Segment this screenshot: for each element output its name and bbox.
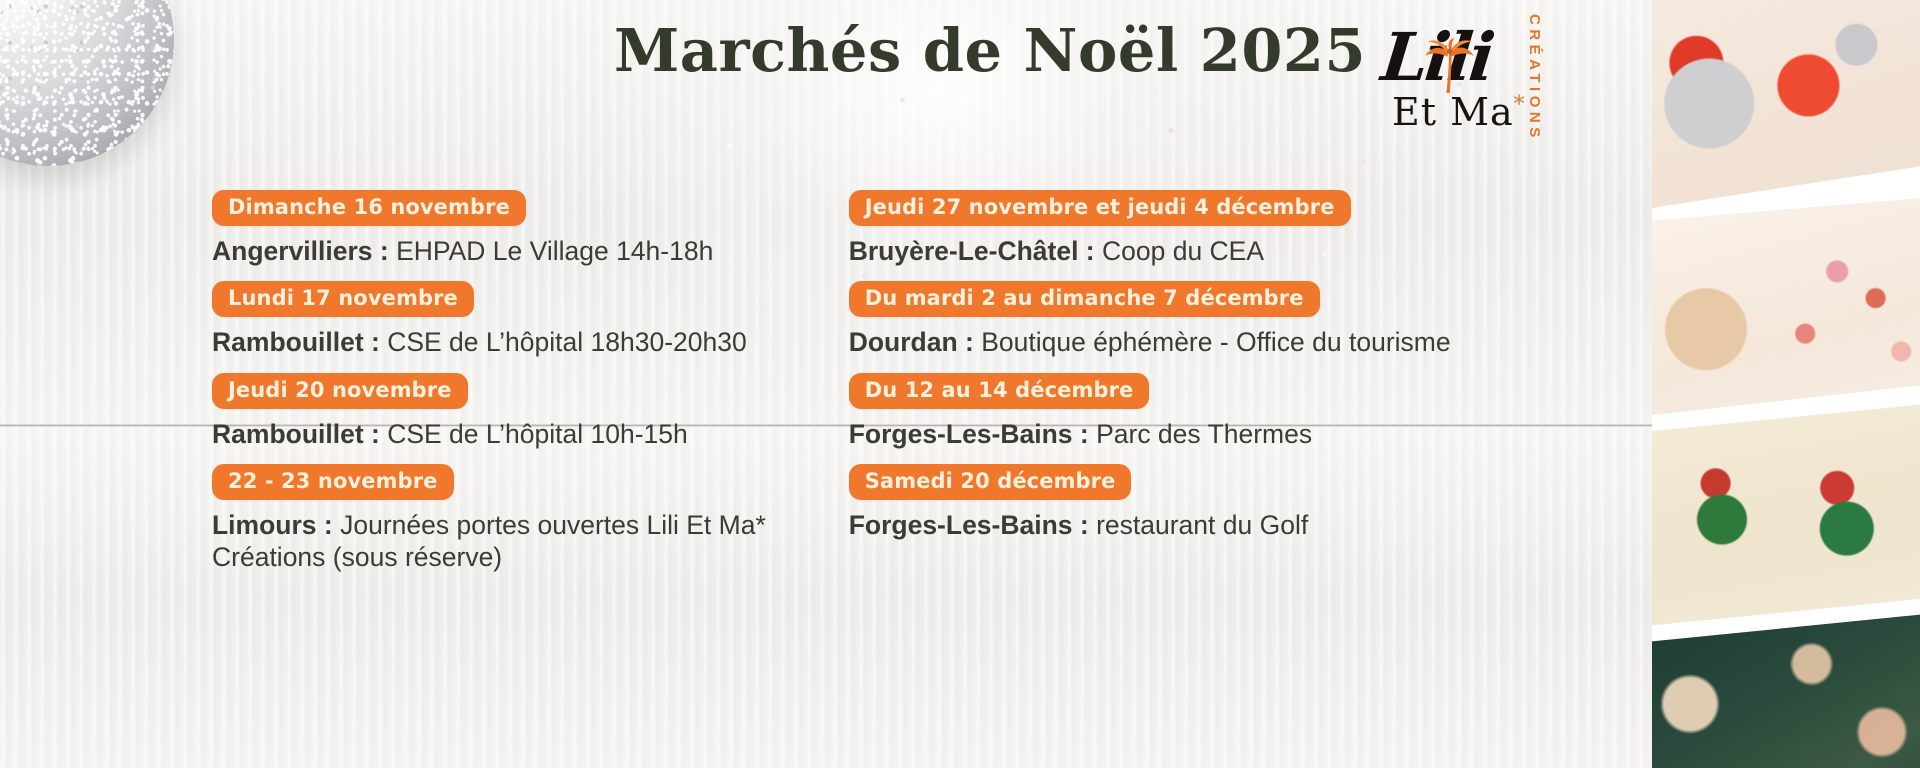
event-place: Bruyère-Le-Châtel : <box>849 236 1095 266</box>
event-place: Angervilliers : <box>212 236 389 266</box>
event-entry: Du mardi 2 au dimanche 7 décembre Dourda… <box>849 281 1520 358</box>
event-detail: Limours : Journées portes ouvertes Lili … <box>212 509 809 574</box>
logo-subname: Et Ma* <box>1392 90 1526 134</box>
event-detail: Bruyère-Le-Châtel : Coop du CEA <box>849 235 1520 267</box>
logo-star: * <box>1514 92 1526 117</box>
logo-mark: Lili Et Ma* CRÉATIONS <box>1380 10 1530 160</box>
event-date-badge: Jeudi 27 novembre et jeudi 4 décembre <box>849 190 1351 226</box>
event-entry: Jeudi 27 novembre et jeudi 4 décembre Br… <box>849 190 1520 267</box>
event-entry: Dimanche 16 novembre Angervilliers : EHP… <box>212 190 809 267</box>
photo-keyring-turtle <box>1652 0 1920 212</box>
event-place: Rambouillet : <box>212 419 380 449</box>
event-place: Forges-Les-Bains : <box>849 419 1089 449</box>
events-column-right: Jeudi 27 novembre et jeudi 4 décembre Br… <box>849 190 1520 588</box>
event-date-badge: Du 12 au 14 décembre <box>849 373 1150 409</box>
event-venue: Parc des Thermes <box>1089 419 1312 449</box>
event-place: Forges-Les-Bains : <box>849 510 1089 540</box>
event-entry: Du 12 au 14 décembre Forges-Les-Bains : … <box>849 373 1520 450</box>
photo-christmas-pouches <box>1652 402 1920 628</box>
events-column-left: Dimanche 16 novembre Angervilliers : EHP… <box>212 190 809 588</box>
event-date-badge: Jeudi 20 novembre <box>212 373 468 409</box>
event-place: Dourdan : <box>849 327 974 357</box>
event-date-badge: Du mardi 2 au dimanche 7 décembre <box>849 281 1320 317</box>
event-detail: Rambouillet : CSE de L’hôpital 18h30-20h… <box>212 326 809 358</box>
photo-beaded-bracelets <box>1652 196 1920 418</box>
event-place: Limours : <box>212 510 333 540</box>
photo-christmas-tree <box>1652 612 1920 768</box>
event-entry: Jeudi 20 novembre Rambouillet : CSE de L… <box>212 373 809 450</box>
logo-tagline: CRÉATIONS <box>1526 14 1543 142</box>
event-venue: Boutique éphémère - Office du tourisme <box>974 327 1451 357</box>
event-venue: restaurant du Golf <box>1089 510 1308 540</box>
event-date-badge: 22 - 23 novembre <box>212 464 454 500</box>
event-venue: CSE de L’hôpital 18h30-20h30 <box>380 327 747 357</box>
event-venue: CSE de L’hôpital 10h-15h <box>380 419 688 449</box>
event-detail: Rambouillet : CSE de L’hôpital 10h-15h <box>212 418 809 450</box>
event-date-badge: Lundi 17 novembre <box>212 281 474 317</box>
event-entry: 22 - 23 novembre Limours : Journées port… <box>212 464 809 574</box>
event-detail: Dourdan : Boutique éphémère - Office du … <box>849 326 1520 358</box>
event-venue: EHPAD Le Village 14h-18h <box>389 236 714 266</box>
events-list: Dimanche 16 novembre Angervilliers : EHP… <box>0 190 1520 588</box>
event-entry: Samedi 20 décembre Forges-Les-Bains : re… <box>849 464 1520 541</box>
event-date-badge: Samedi 20 décembre <box>849 464 1132 500</box>
event-place: Rambouillet : <box>212 327 380 357</box>
event-entry: Lundi 17 novembre Rambouillet : CSE de L… <box>212 281 809 358</box>
event-date-badge: Dimanche 16 novembre <box>212 190 526 226</box>
event-venue: Coop du CEA <box>1095 236 1264 266</box>
event-detail: Angervilliers : EHPAD Le Village 14h-18h <box>212 235 809 267</box>
brand-logo[interactable]: Lili Et Ma* CRÉATIONS <box>1380 10 1550 170</box>
photo-strip <box>1652 0 1920 768</box>
event-detail: Forges-Les-Bains : restaurant du Golf <box>849 509 1520 541</box>
event-detail: Forges-Les-Bains : Parc des Thermes <box>849 418 1520 450</box>
